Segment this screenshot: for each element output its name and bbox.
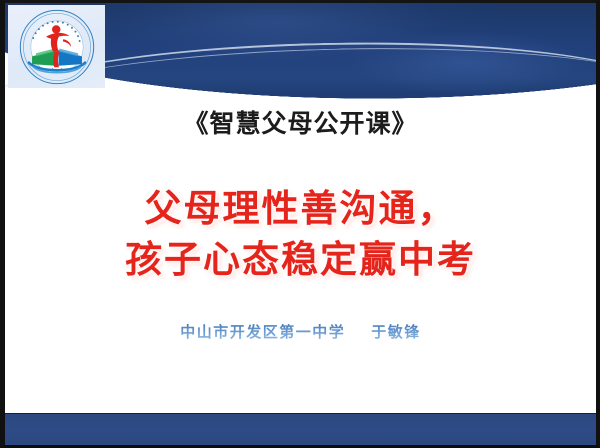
slide-main-title-line-2: 孩子心态稳定赢中考	[5, 234, 596, 285]
school-emblem-icon	[18, 8, 96, 86]
course-series-subtitle: 《智慧父母公开课》	[5, 107, 596, 141]
presenter-name: 于敏锋	[371, 323, 421, 341]
school-logo-panel	[8, 5, 105, 88]
slide-main-title-line-1: 父母理性善沟通，	[5, 183, 596, 234]
slide-canvas: 《智慧父母公开课》 父母理性善沟通， 孩子心态稳定赢中考 中山市开发区第一中学于…	[5, 3, 596, 445]
slide-main-title: 父母理性善沟通， 孩子心态稳定赢中考	[5, 183, 596, 285]
presenter-credit: 中山市开发区第一中学于敏锋	[5, 321, 596, 343]
presenter-school: 中山市开发区第一中学	[180, 323, 345, 341]
footer-bar	[5, 413, 596, 445]
presentation-slide-frame: 《智慧父母公开课》 父母理性善沟通， 孩子心态稳定赢中考 中山市开发区第一中学于…	[0, 0, 600, 448]
